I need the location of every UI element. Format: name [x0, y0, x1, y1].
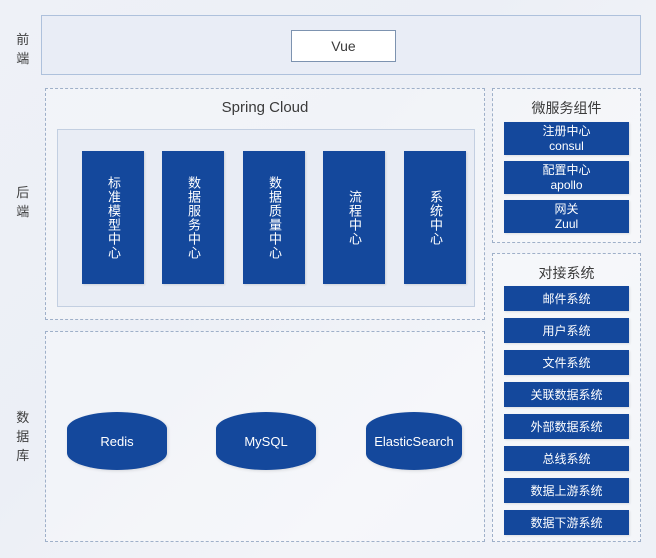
- microservice-component-sublabel: Zuul: [555, 217, 578, 232]
- service-box[interactable]: 数据质量中心: [243, 151, 305, 284]
- service-box[interactable]: 系统中心: [404, 151, 466, 284]
- service-box-label: 系统中心: [426, 190, 444, 246]
- tier-label-database-char-1: 据: [8, 427, 38, 446]
- integration-system-box[interactable]: 邮件系统: [504, 286, 629, 311]
- frontend-panel: Vue: [41, 15, 641, 75]
- integration-system-label: 邮件系统: [542, 290, 590, 307]
- spring-cloud-panel: Spring Cloud 标准模型中心 数据服务中心 数据质量中心 流程中心 系…: [45, 88, 485, 320]
- microservice-component-label: 网关: [554, 202, 578, 217]
- tier-label-frontend-char-0: 前: [8, 30, 38, 49]
- tier-label-frontend: 前 端: [8, 30, 38, 68]
- tier-label-database-char-2: 库: [8, 446, 38, 465]
- integration-system-label: 用户系统: [542, 322, 590, 339]
- microservice-components-title: 微服务组件: [493, 98, 640, 118]
- microservice-component-label: 配置中心: [542, 163, 590, 178]
- service-box-label: 标准模型中心: [104, 176, 122, 260]
- frontend-node-vue[interactable]: Vue: [291, 30, 396, 62]
- spring-cloud-inner-panel: 标准模型中心 数据服务中心 数据质量中心 流程中心 系统中心: [57, 129, 475, 307]
- tier-label-frontend-char-1: 端: [8, 49, 38, 68]
- integration-system-box[interactable]: 关联数据系统: [504, 382, 629, 407]
- microservice-component-label: 注册中心: [542, 124, 590, 139]
- database-cylinder-label: MySQL: [244, 434, 287, 449]
- integration-system-box[interactable]: 文件系统: [504, 350, 629, 375]
- microservice-component-box[interactable]: 注册中心 consul: [504, 122, 629, 155]
- microservice-component-box[interactable]: 网关 Zuul: [504, 200, 629, 233]
- tier-label-database-char-0: 数: [8, 408, 38, 427]
- microservice-component-sublabel: apollo: [550, 178, 582, 193]
- integration-system-box[interactable]: 数据上游系统: [504, 478, 629, 503]
- integration-system-label: 数据上游系统: [530, 482, 602, 499]
- database-cylinder-label: Redis: [100, 434, 133, 449]
- service-box[interactable]: 标准模型中心: [82, 151, 144, 284]
- tier-label-database: 数 据 库: [8, 408, 38, 465]
- service-box-label: 数据服务中心: [184, 176, 202, 260]
- integration-system-label: 总线系统: [542, 450, 590, 467]
- database-cylinder-label: ElasticSearch: [374, 434, 453, 449]
- tier-label-backend: 后 端: [8, 183, 38, 221]
- integration-system-label: 关联数据系统: [530, 386, 602, 403]
- database-panel: Redis MySQL ElasticSearch: [45, 331, 485, 542]
- microservice-component-sublabel: consul: [549, 139, 584, 154]
- integration-systems-panel: 对接系统 邮件系统 用户系统 文件系统 关联数据系统 外部数据系统 总线系统 数…: [492, 253, 641, 542]
- service-box[interactable]: 流程中心: [323, 151, 385, 284]
- database-cylinder[interactable]: Redis: [67, 412, 167, 470]
- service-box-label: 数据质量中心: [265, 176, 283, 260]
- architecture-diagram: 前 端 后 端 数 据 库 Vue Spring Cloud 标准模型中心 数据…: [0, 0, 656, 558]
- integration-system-label: 数据下游系统: [530, 514, 602, 531]
- microservice-components-panel: 微服务组件 注册中心 consul 配置中心 apollo 网关 Zuul: [492, 88, 641, 243]
- service-box-label: 流程中心: [345, 190, 363, 246]
- database-cylinder[interactable]: MySQL: [216, 412, 316, 470]
- integration-system-label: 文件系统: [542, 354, 590, 371]
- integration-system-box[interactable]: 外部数据系统: [504, 414, 629, 439]
- integration-system-box[interactable]: 用户系统: [504, 318, 629, 343]
- microservice-component-box[interactable]: 配置中心 apollo: [504, 161, 629, 194]
- service-box[interactable]: 数据服务中心: [162, 151, 224, 284]
- integration-systems-title: 对接系统: [493, 263, 640, 283]
- integration-system-box[interactable]: 总线系统: [504, 446, 629, 471]
- tier-label-backend-char-1: 端: [8, 202, 38, 221]
- integration-system-box[interactable]: 数据下游系统: [504, 510, 629, 535]
- tier-label-backend-char-0: 后: [8, 183, 38, 202]
- database-cylinder[interactable]: ElasticSearch: [366, 412, 462, 470]
- spring-cloud-title: Spring Cloud: [46, 99, 484, 116]
- integration-system-label: 外部数据系统: [530, 418, 602, 435]
